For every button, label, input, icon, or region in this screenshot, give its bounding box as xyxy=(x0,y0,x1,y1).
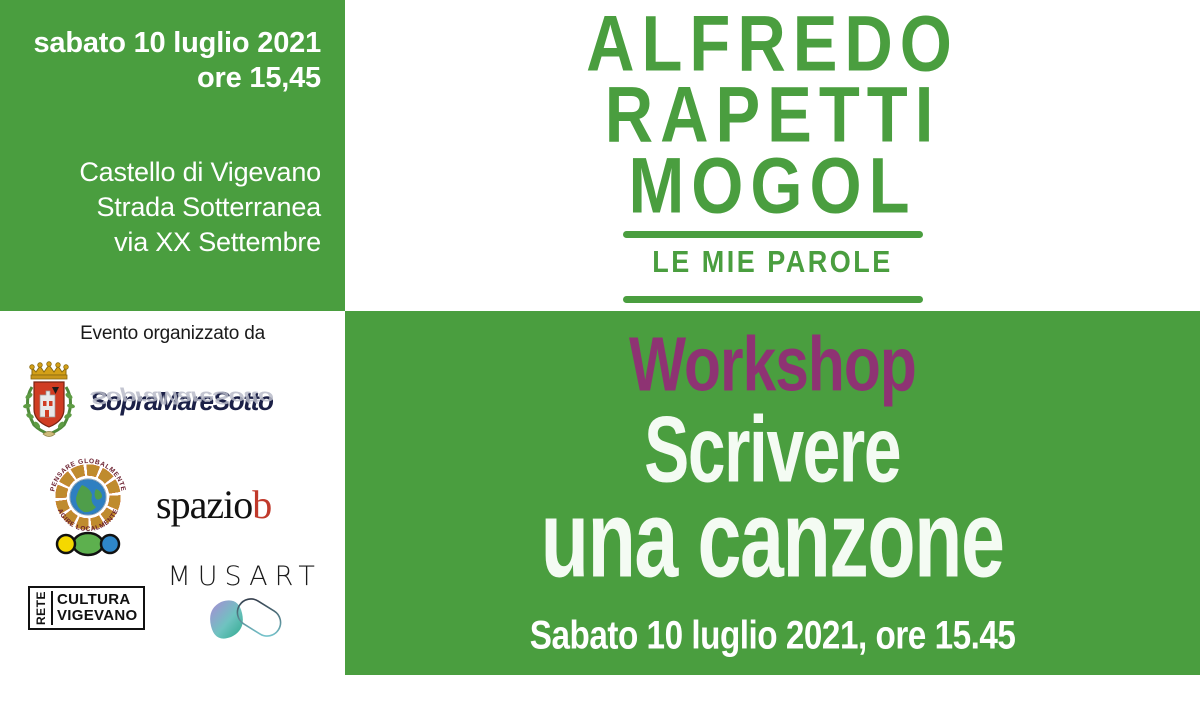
venue-line-3: via XX Settembre xyxy=(24,225,321,260)
comune-di-vigevano-crest-icon xyxy=(18,359,80,443)
sponsor-row-1: SopraMareSotto SopraMareSotto xyxy=(0,359,345,443)
event-venue: Castello di Vigevano Strada Sotterranea … xyxy=(24,155,321,260)
pensare-globalmente-globe-icon: PENSARE GLOBALMENTE AGIRE LOCALMENTE xyxy=(44,449,132,559)
sponsor-row-2: PENSARE GLOBALMENTE AGIRE LOCALMENTE spa… xyxy=(0,449,345,559)
event-poster: sabato 10 luglio 2021 ore 15,45 Castello… xyxy=(0,0,1200,675)
headline-rule-top xyxy=(623,231,923,238)
sponsors-panel: Evento organizzato da xyxy=(0,311,345,675)
event-date-line-2: ore 15,45 xyxy=(24,61,321,96)
workshop-admission-note: INGRESSO LIBERO SINO AD ESAURIMENTO POST… xyxy=(515,671,1029,702)
sponsor-row-3: RETE CULTURA VIGEVANO MUSART xyxy=(0,561,345,655)
spaziob-word: spazio xyxy=(156,482,252,527)
event-details-panel: sabato 10 luglio 2021 ore 15,45 Castello… xyxy=(0,0,345,311)
musart-logo: MUSART xyxy=(167,561,321,655)
workshop-datetime: Sabato 10 luglio 2021, ore 15.45 xyxy=(530,613,1016,659)
rete-line-1: CULTURA xyxy=(57,592,137,608)
venue-line-1: Castello di Vigevano xyxy=(24,155,321,190)
musart-mark-icon xyxy=(191,594,299,650)
artist-name-line-3: MOGOL xyxy=(628,150,916,224)
event-date-line-1: sabato 10 luglio 2021 xyxy=(24,26,321,61)
workshop-panel: Workshop Scrivere una canzone Sabato 10 … xyxy=(345,311,1200,675)
headline-subtitle: LE MIE PAROLE xyxy=(652,245,893,280)
spaziob-logo: spaziob xyxy=(156,481,271,528)
headline-rule-bottom xyxy=(623,296,923,303)
venue-line-2: Strada Sotterranea xyxy=(24,190,321,225)
musart-wordmark: MUSART xyxy=(167,561,321,592)
workshop-kicker: Workshop xyxy=(629,327,916,404)
headline-panel: ALFREDO RAPETTI MOGOL LE MIE PAROLE xyxy=(345,0,1200,311)
rete-cultura-vigevano-logo: RETE CULTURA VIGEVANO xyxy=(28,586,145,630)
workshop-title-line-2: una canzone xyxy=(541,487,1004,593)
sponsors-heading: Evento organizzato da xyxy=(0,311,345,345)
rete-label: RETE xyxy=(33,591,49,625)
spaziob-accent: b xyxy=(252,482,271,527)
rete-line-2: VIGEVANO xyxy=(57,608,137,624)
rete-words: CULTURA VIGEVANO xyxy=(51,591,137,625)
